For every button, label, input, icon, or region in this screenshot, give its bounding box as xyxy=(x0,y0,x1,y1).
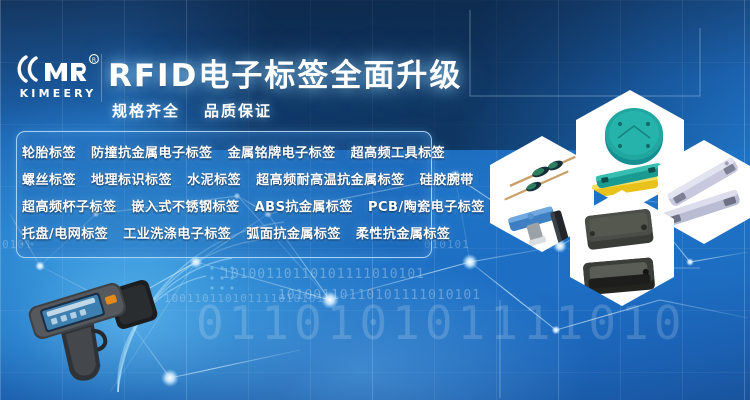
binary-overlay-large: 011010101111010 xyxy=(196,296,686,350)
rfid-promo-banner: 011010101111010 10100110110101111010101 … xyxy=(0,0,750,400)
tag-item: 地理标识标签 xyxy=(91,173,172,188)
tag-item: 螺丝标签 xyxy=(22,173,76,188)
logo-divider xyxy=(101,54,102,102)
tag-item: 轮胎标签 xyxy=(22,146,76,161)
svg-text:R: R xyxy=(92,57,96,64)
logo-wordmark: KIMEERY xyxy=(14,87,102,100)
tag-item: 超高频工具标签 xyxy=(351,146,446,161)
tag-item: 水泥标签 xyxy=(187,173,241,188)
tag-item: 嵌入式不锈钢标签 xyxy=(132,200,240,215)
kmr-logo-icon: R xyxy=(14,52,102,86)
tag-item: 金属铭牌电子标签 xyxy=(228,146,336,161)
binary-overlay-mid-lower: 10100110110101111010101 xyxy=(278,288,481,303)
subtitle: 规格齐全品质保证 xyxy=(112,100,296,121)
tag-row-1: 螺丝标签 地理标识标签 水泥标签 超高频耐高温抗金属标签 硅胶腕带 xyxy=(17,167,431,194)
product-tag-list-panel: 轮胎标签 防撞抗金属电子标签 金属铭牌电子标签 超高频工具标签 螺丝标签 地理标… xyxy=(16,131,432,258)
tag-item: PCB/陶瓷电子标签 xyxy=(368,200,485,215)
tag-item: 超高频杯子标签 xyxy=(22,200,117,215)
tag-item: 托盘/电网标签 xyxy=(22,227,108,242)
tag-item: 防撞抗金属电子标签 xyxy=(91,146,213,161)
subtitle-item-0: 规格齐全 xyxy=(112,102,180,120)
handheld-rfid-reader xyxy=(22,272,174,384)
subtitle-item-1: 品质保证 xyxy=(204,102,272,120)
page-title: RFID电子标签全面升级 xyxy=(108,50,462,95)
tag-item: 弧面抗金属标签 xyxy=(246,227,341,242)
logo-mark: R xyxy=(14,52,102,86)
tag-item: 硅胶腕带 xyxy=(420,173,474,188)
tag-row-3: 托盘/电网标签 工业洗涤电子标签 弧面抗金属标签 柔性抗金属标签 xyxy=(17,221,431,248)
brand-logo: R KIMEERY xyxy=(14,52,102,100)
binary-overlay-mid-upper: 10100110110101111010101 xyxy=(222,267,425,282)
handheld-reader-graphic xyxy=(22,272,174,384)
tag-row-2: 超高频杯子标签 嵌入式不锈钢标签 ABS抗金属标签 PCB/陶瓷电子标签 xyxy=(17,194,431,221)
tag-item: 工业洗涤电子标签 xyxy=(123,227,231,242)
tag-item: 柔性抗金属标签 xyxy=(356,227,451,242)
tag-item: 超高频耐高温抗金属标签 xyxy=(256,173,405,188)
binary-overlay-left-small: 100110110101111010101 xyxy=(164,292,324,305)
tag-item: ABS抗金属标签 xyxy=(255,200,353,215)
background-glow-bottom xyxy=(120,250,600,400)
tag-row-0: 轮胎标签 防撞抗金属电子标签 金属铭牌电子标签 超高频工具标签 xyxy=(17,140,431,167)
